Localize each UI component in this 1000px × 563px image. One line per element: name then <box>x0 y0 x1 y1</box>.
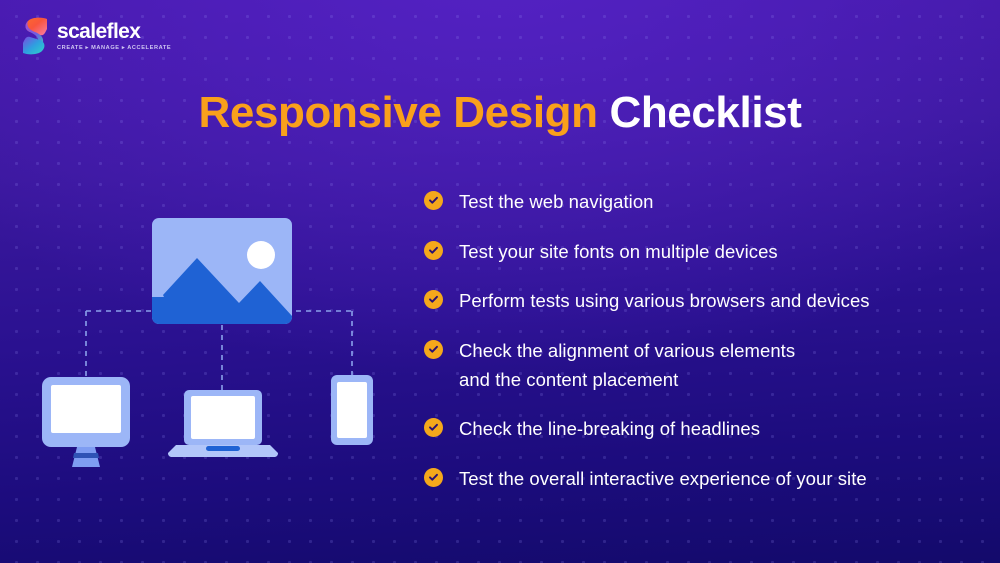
smartphone-icon <box>331 375 373 445</box>
list-item[interactable]: Perform tests using various browsers and… <box>424 287 984 316</box>
page-title-rest: Checklist <box>609 88 801 137</box>
slide-canvas: scaleflex CREATE ▸ MANAGE ▸ ACCELERATE R… <box>0 0 1000 563</box>
list-item-label: Test the web navigation <box>459 188 654 217</box>
responsive-devices-illustration <box>0 185 400 485</box>
list-item-label: Check the alignment of various elements … <box>459 337 795 394</box>
list-item[interactable]: Test your site fonts on multiple devices <box>424 238 984 267</box>
list-item-label: Perform tests using various browsers and… <box>459 287 870 316</box>
brand-logo-text: scaleflex CREATE ▸ MANAGE ▸ ACCELERATE <box>57 21 171 50</box>
check-circle-icon <box>424 418 443 437</box>
list-item[interactable]: Test the overall interactive experience … <box>424 465 984 494</box>
list-item[interactable]: Check the line-breaking of headlines <box>424 415 984 444</box>
list-item[interactable]: Test the web navigation <box>424 188 984 217</box>
page-title: Responsive Design Checklist <box>0 88 1000 138</box>
brand-logo[interactable]: scaleflex CREATE ▸ MANAGE ▸ ACCELERATE <box>22 17 171 55</box>
checklist: Test the web navigation Test your site f… <box>424 188 984 494</box>
check-circle-icon <box>424 468 443 487</box>
list-item-label: Test the overall interactive experience … <box>459 465 867 494</box>
list-item-label: Check the line-breaking of headlines <box>459 415 760 444</box>
desktop-monitor-icon <box>42 377 130 467</box>
list-item-label: Test your site fonts on multiple devices <box>459 238 778 267</box>
page-title-highlight: Responsive Design <box>199 88 598 137</box>
list-item[interactable]: Check the alignment of various elements … <box>424 337 984 394</box>
brand-name: scaleflex <box>57 21 171 42</box>
check-circle-icon <box>424 290 443 309</box>
image-placeholder-icon <box>152 218 292 324</box>
scaleflex-s-mark-icon <box>22 17 48 55</box>
laptop-icon <box>168 390 278 457</box>
devices-diagram-svg <box>0 185 400 485</box>
check-circle-icon <box>424 241 443 260</box>
brand-tagline: CREATE ▸ MANAGE ▸ ACCELERATE <box>57 45 171 51</box>
check-circle-icon <box>424 191 443 210</box>
check-circle-icon <box>424 340 443 359</box>
